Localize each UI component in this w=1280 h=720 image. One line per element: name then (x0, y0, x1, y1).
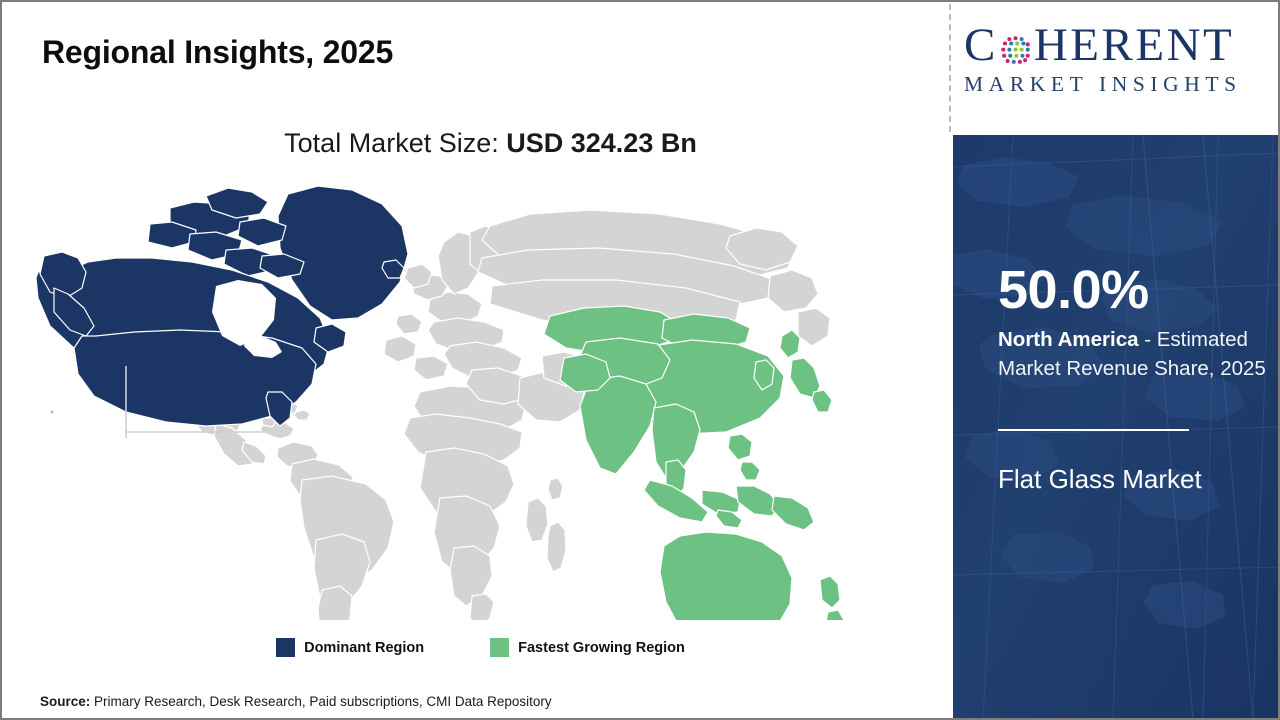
legend-item-fastest-growing: Fastest Growing Region (490, 638, 685, 657)
logo-wordmark: C (964, 18, 1270, 72)
page-title: Regional Insights, 2025 (42, 34, 393, 71)
coherent-market-insights-logo: C (964, 18, 1270, 118)
region-new-zealand (820, 576, 844, 620)
legend-label-dominant: Dominant Region (304, 640, 424, 656)
regional-insights-infographic: Regional Insights, 2025 Total Market Siz… (0, 0, 1280, 720)
legend-swatch-dominant (276, 638, 295, 657)
source-note: Source: Primary Research, Desk Research,… (40, 694, 552, 709)
stat-content: 50.0% North America - Estimated Market R… (998, 135, 1260, 720)
legend-swatch-fastest-growing (490, 638, 509, 657)
market-size-label: Total Market Size: (284, 128, 499, 158)
map-legend: Dominant Region Fastest Growing Region (2, 638, 949, 657)
globe-dots-icon (998, 30, 1033, 65)
market-size-value: USD 324.23 Bn (506, 128, 697, 158)
region-asia-pacific (544, 306, 832, 502)
legend-label-fastest-growing: Fastest Growing Region (518, 640, 685, 656)
source-label: Source: (40, 694, 90, 709)
total-market-size: Total Market Size: USD 324.23 Bn (2, 128, 949, 159)
logo-tagline: MARKET INSIGHTS (964, 74, 1270, 96)
world-map (30, 180, 870, 620)
legend-item-dominant: Dominant Region (276, 638, 424, 657)
region-africa (404, 386, 563, 620)
region-madagascar (547, 522, 566, 572)
left-content-panel: Regional Insights, 2025 Total Market Siz… (2, 2, 949, 718)
source-text: Primary Research, Desk Research, Paid su… (90, 694, 551, 709)
logo-wordmark-rest: HERENT (1034, 22, 1234, 69)
region-australia (660, 532, 792, 620)
region-south-america (260, 421, 394, 620)
stat-divider-rule (998, 429, 1189, 431)
stat-description: North America - Estimated Market Revenue… (998, 325, 1270, 383)
stat-panel: 50.0% North America - Estimated Market R… (953, 135, 1280, 720)
market-name: Flat Glass Market (998, 462, 1248, 497)
stat-percent-value: 50.0% (998, 263, 1149, 317)
logo-letter-c: C (964, 22, 998, 69)
map-artifact-dot (50, 410, 53, 413)
vertical-divider (949, 4, 951, 132)
stat-region-name: North America (998, 328, 1139, 351)
world-map-svg (30, 180, 870, 620)
